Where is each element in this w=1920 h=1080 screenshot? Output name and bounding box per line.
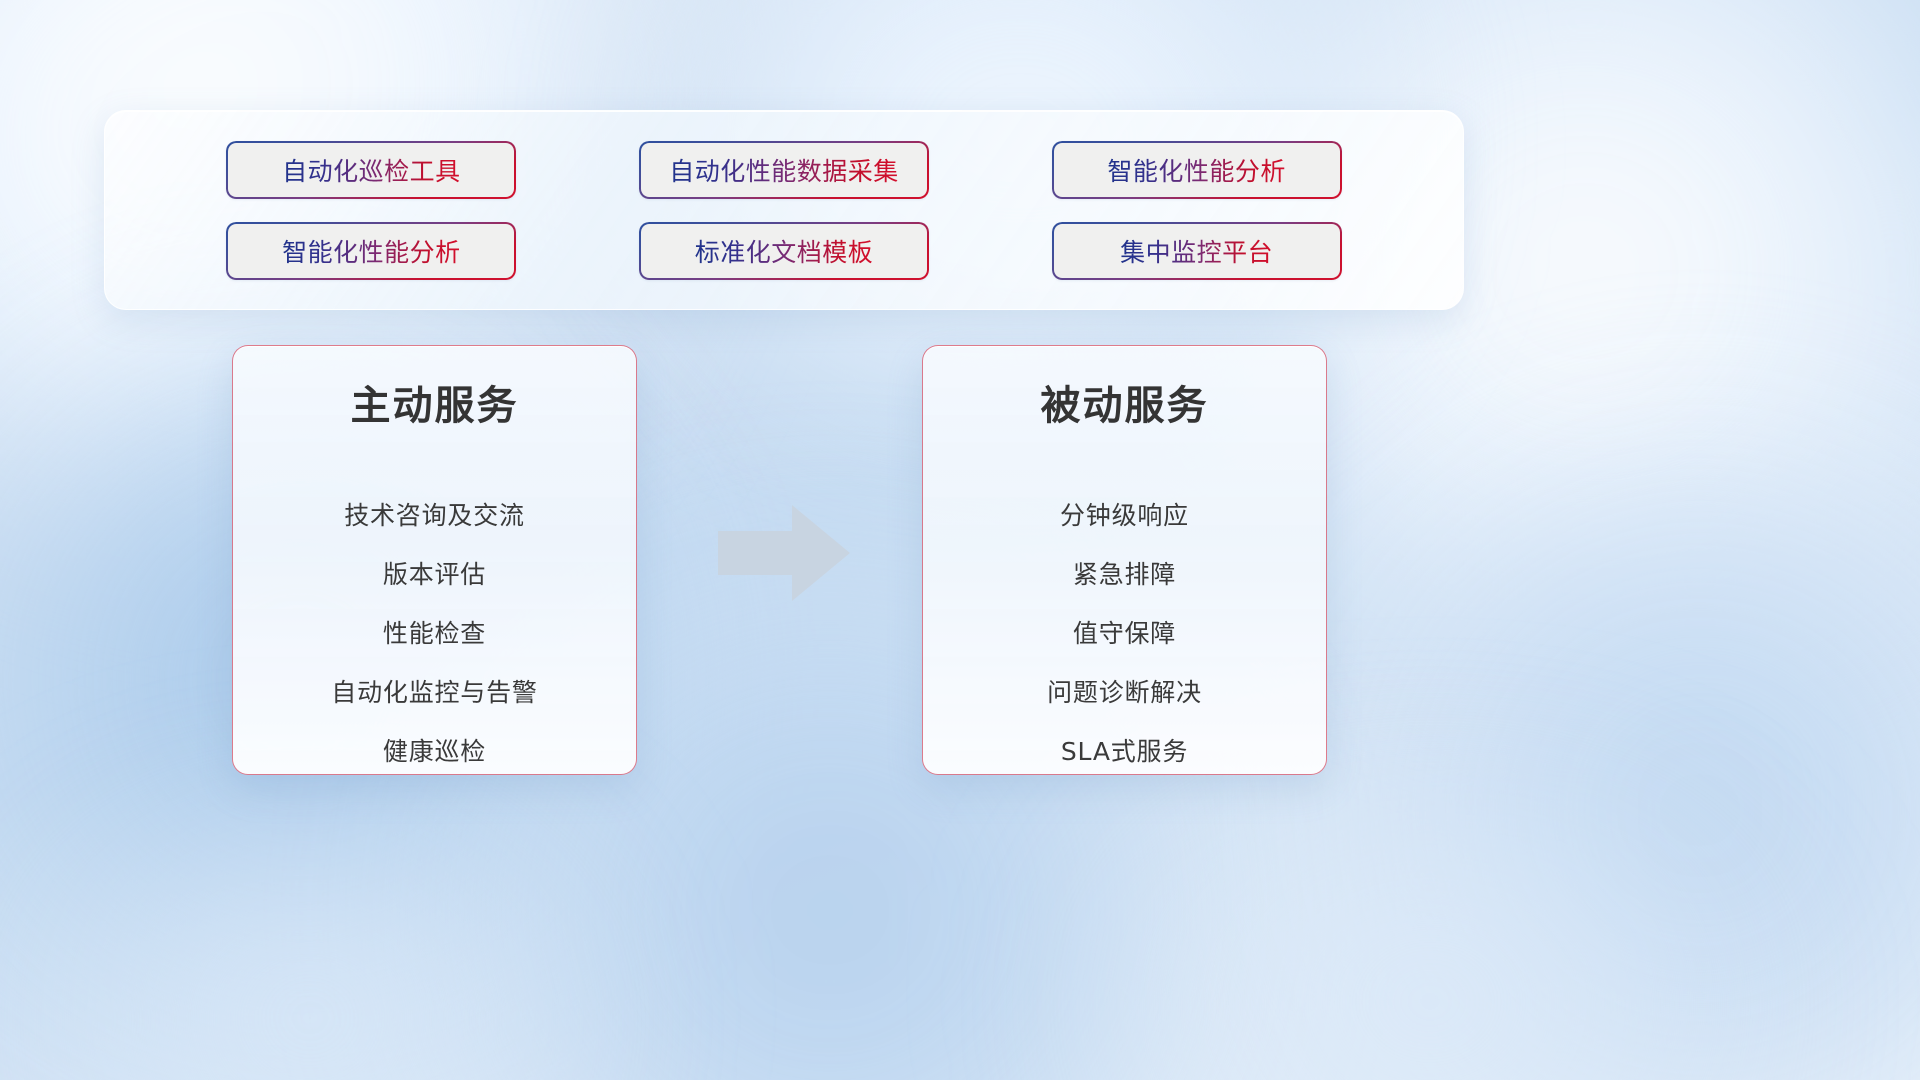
tool-chip-label: 标准化文档模板 — [695, 233, 874, 269]
tool-chip-3[interactable]: 智能化性能分析 — [226, 222, 516, 280]
reactive-card-title: 被动服务 — [953, 382, 1296, 430]
tool-chip-label: 自动化巡检工具 — [282, 152, 461, 188]
list-item: 性能检查 — [263, 604, 606, 663]
tool-chip-label: 集中监控平台 — [1120, 233, 1273, 269]
right-arrow-icon — [718, 505, 850, 601]
tool-chip-label: 智能化性能分析 — [1107, 152, 1286, 188]
tool-chip-2[interactable]: 智能化性能分析 — [1052, 141, 1342, 199]
tool-chip-4[interactable]: 标准化文档模板 — [639, 222, 929, 280]
list-item: 健康巡检 — [263, 722, 606, 781]
proactive-service-card: 主动服务 技术咨询及交流 版本评估 性能检查 自动化监控与告警 健康巡检 — [232, 345, 637, 775]
list-item: 紧急排障 — [953, 545, 1296, 604]
tool-chip-1[interactable]: 自动化性能数据采集 — [639, 141, 929, 199]
list-item: 技术咨询及交流 — [263, 486, 606, 545]
tool-chip-label: 智能化性能分析 — [282, 233, 461, 269]
list-item: 分钟级响应 — [953, 486, 1296, 545]
proactive-card-title: 主动服务 — [263, 382, 606, 430]
capability-tools-panel: 自动化巡检工具 自动化性能数据采集 智能化性能分析 智能化性能分析 标准化文档模… — [104, 110, 1464, 310]
reactive-service-card: 被动服务 分钟级响应 紧急排障 值守保障 问题诊断解决 SLA式服务 — [922, 345, 1327, 775]
proactive-service-list: 技术咨询及交流 版本评估 性能检查 自动化监控与告警 健康巡检 — [263, 486, 606, 781]
list-item: 版本评估 — [263, 545, 606, 604]
list-item: SLA式服务 — [953, 722, 1296, 781]
reactive-service-list: 分钟级响应 紧急排障 值守保障 问题诊断解决 SLA式服务 — [953, 486, 1296, 781]
tool-chip-0[interactable]: 自动化巡检工具 — [226, 141, 516, 199]
list-item: 问题诊断解决 — [953, 663, 1296, 722]
tool-chip-label: 自动化性能数据采集 — [669, 152, 899, 188]
list-item: 值守保障 — [953, 604, 1296, 663]
tool-chip-5[interactable]: 集中监控平台 — [1052, 222, 1342, 280]
list-item: 自动化监控与告警 — [263, 663, 606, 722]
